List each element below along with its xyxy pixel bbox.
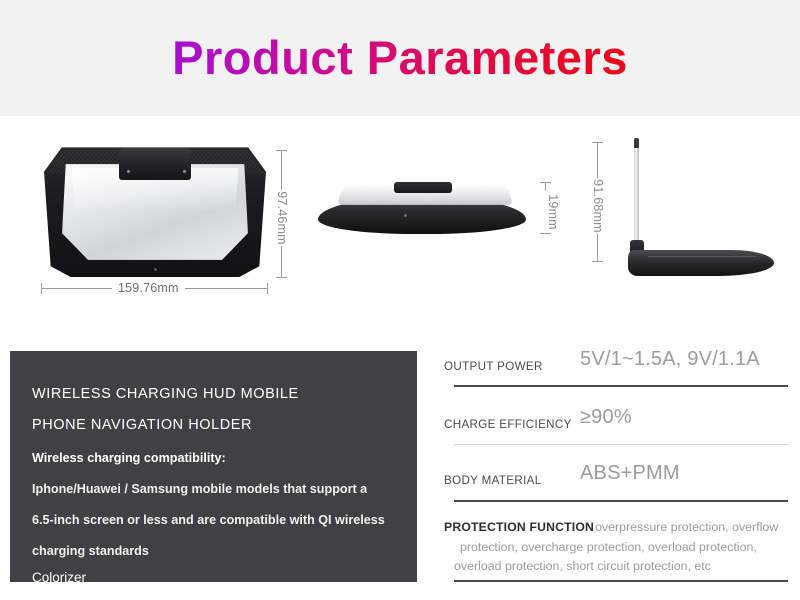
- dim-height-label-2: 19mm: [541, 191, 565, 233]
- hud-base-seam: [648, 256, 756, 257]
- colorizer-label: Colorizer: [32, 567, 395, 589]
- page-header: Product Parameters: [0, 0, 800, 116]
- dim-height-cap-bottom-1: [276, 277, 287, 278]
- product-view-side-closed: [318, 178, 526, 234]
- hud-raised-screen-arm: [634, 138, 639, 252]
- dim-height-cap-top-2: [540, 182, 551, 183]
- base-indicator-dot-icon-2: [404, 214, 407, 217]
- hinge-screw-left-icon: [127, 170, 130, 173]
- product-gallery: 159.76mm 97.46mm 19mm 91.68mm: [0, 116, 800, 331]
- protection-line-3: overload protection, short circuit prote…: [440, 557, 788, 577]
- description-title-line-1: WIRELESS CHARGING HUD MOBILE: [32, 379, 395, 410]
- spec-divider-1: [454, 385, 788, 387]
- hud-phone-clip: [394, 182, 452, 193]
- product-view-front-open: [44, 142, 266, 277]
- spec-value-protection-function: overpressure protection, overflow protec…: [440, 518, 788, 577]
- compatibility-heading: Wireless charging compatibility:: [32, 443, 395, 474]
- spec-label-body-material: BODY MATERIAL: [444, 474, 542, 487]
- description-body-line-2: 6.5-inch screen or less and are compatib…: [32, 505, 395, 536]
- dim-width-cap-left: [41, 283, 42, 294]
- spec-label-charge-efficiency: CHARGE EFFICIENCY: [444, 418, 572, 431]
- hinge-screw-right-icon: [183, 170, 186, 173]
- hud-base-body-3: [628, 250, 774, 276]
- dim-width-label: 159.76mm: [112, 281, 185, 295]
- spec-value-charge-efficiency: ≥90%: [580, 406, 632, 429]
- spec-divider-2: [454, 444, 788, 445]
- spec-value-output-power: 5V/1~1.5A, 9V/1.1A: [580, 348, 760, 371]
- description-body-line-1: Iphone/Huawei / Samsung mobile models th…: [32, 474, 395, 505]
- hud-screen-tip: [634, 138, 639, 148]
- protection-line-1: overpressure protection, overflow: [440, 518, 788, 538]
- spec-value-body-material: ABS+PMM: [580, 462, 680, 485]
- dim-height-cap-top-3: [592, 142, 603, 143]
- spec-label-output-power: OUTPUT POWER: [444, 360, 543, 373]
- spec-divider-3: [454, 500, 788, 502]
- base-indicator-dot-icon: [154, 268, 157, 271]
- dim-height-label-3: 91.68mm: [586, 178, 610, 234]
- product-view-side-raised: [618, 138, 774, 274]
- dim-height-cap-top-1: [276, 150, 287, 151]
- dim-width-cap-right: [267, 283, 268, 294]
- specifications-table: OUTPUT POWER 5V/1~1.5A, 9V/1.1A CHARGE E…: [440, 348, 788, 584]
- spec-divider-4: [454, 580, 788, 582]
- dim-height-cap-bottom-2: [540, 233, 551, 234]
- page-title: Product Parameters: [0, 30, 800, 85]
- dim-height-label-1: 97.46mm: [270, 190, 294, 246]
- dim-height-cap-bottom-3: [592, 261, 603, 262]
- description-body-line-3: charging standards: [32, 536, 395, 567]
- product-description-panel: WIRELESS CHARGING HUD MOBILE PHONE NAVIG…: [10, 351, 417, 582]
- hud-hinge-bar: [119, 148, 191, 180]
- description-title-line-2: PHONE NAVIGATION HOLDER: [32, 410, 395, 441]
- protection-line-2: protection, overcharge protection, overl…: [440, 538, 788, 558]
